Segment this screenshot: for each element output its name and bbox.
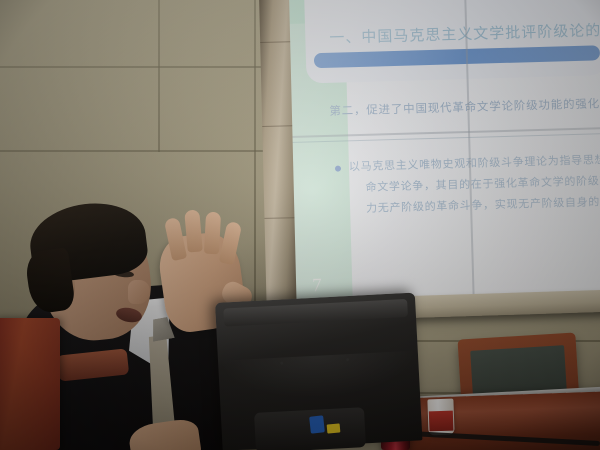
finger xyxy=(184,209,203,252)
monitor-crease xyxy=(218,350,420,402)
hair-sideburn xyxy=(24,247,76,315)
paper-cup xyxy=(427,399,454,436)
pillar-vein xyxy=(260,41,290,43)
slide-page-number: 7 xyxy=(312,275,322,297)
monitor-top-bevel xyxy=(223,299,408,327)
pillar-vein xyxy=(262,125,292,127)
pillar-vein xyxy=(264,217,294,219)
red-wooden-chair-left xyxy=(0,318,60,450)
monitor-screw xyxy=(280,362,283,365)
projection-screen: 一、中国马克思主义文学批评阶级论的 第二，促进了中国现代革命文学论阶级功能的强化… xyxy=(286,0,600,308)
blue-vga-connector xyxy=(309,415,325,433)
cup-red-band xyxy=(429,411,454,432)
yellow-sticker xyxy=(327,423,341,433)
finger xyxy=(219,221,242,265)
finger xyxy=(204,212,221,255)
photo-scene: 一、中国马克思主义文学批评阶级论的 第二，促进了中国现代革命文学论阶级功能的强化… xyxy=(0,0,600,450)
monitor-screw xyxy=(346,358,349,361)
